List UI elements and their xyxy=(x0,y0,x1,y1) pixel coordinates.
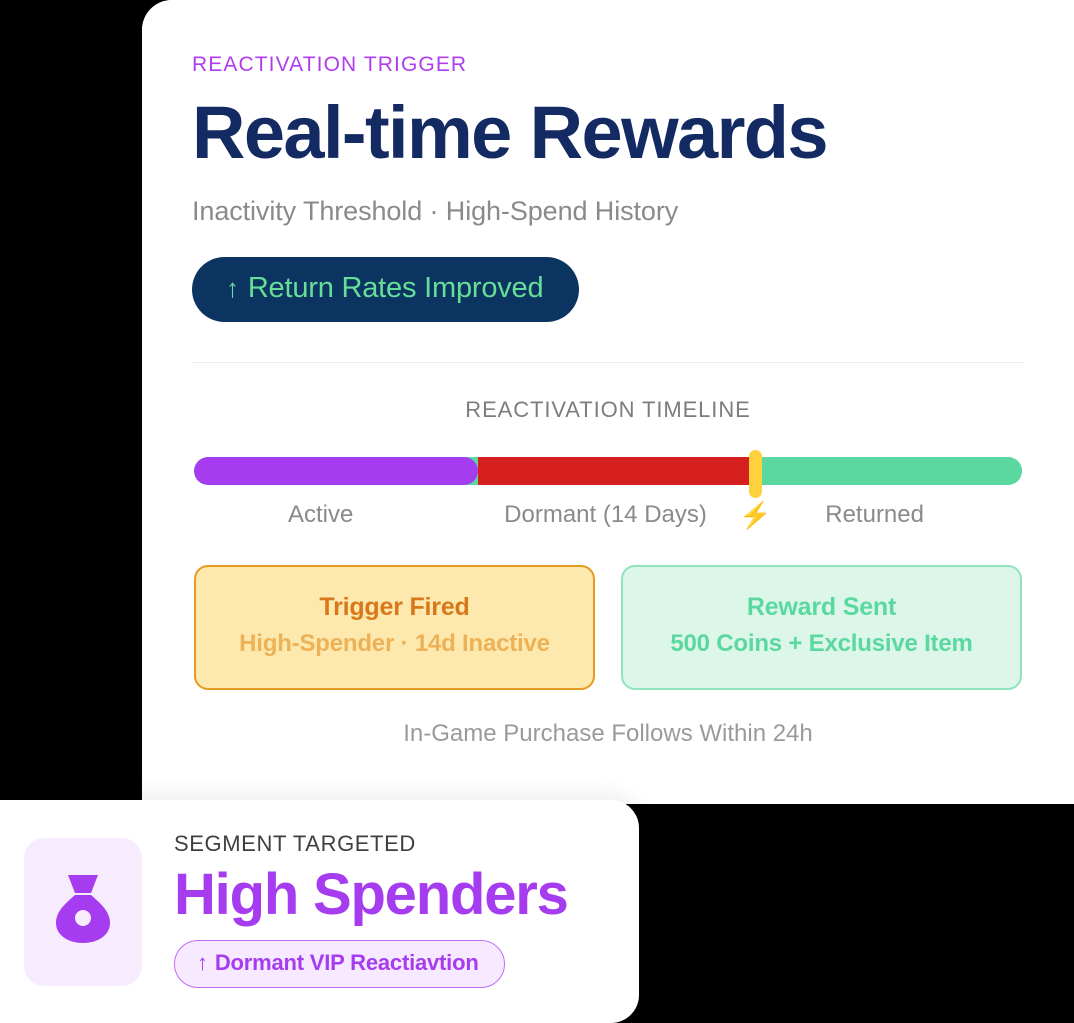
segment-title: High Spenders xyxy=(174,865,568,926)
segment-card: SEGMENT TARGETED High Spenders ↑ Dormant… xyxy=(0,800,639,1023)
segment-eyebrow: SEGMENT TARGETED xyxy=(174,831,568,857)
reward-sent-card: Reward Sent 500 Coins + Exclusive Item xyxy=(621,565,1022,690)
timeline-segment-dormant xyxy=(478,457,755,485)
header-block: REACTIVATION TRIGGER Real-time Rewards I… xyxy=(142,0,1074,363)
timeline-label-active: Active xyxy=(288,501,353,529)
arrow-up-icon: ↑ xyxy=(226,273,239,304)
timeline-section: REACTIVATION TIMELINE Active Dormant (14… xyxy=(142,363,1074,535)
footnote-text: In-Game Purchase Follows Within 24h xyxy=(142,720,1074,748)
segment-icon-container xyxy=(24,838,142,986)
main-card: REACTIVATION TRIGGER Real-time Rewards I… xyxy=(142,0,1074,804)
timeline-labels: Active Dormant (14 Days) ⚡ Returned xyxy=(194,501,1022,535)
arrow-up-icon-segment: ↑ xyxy=(197,950,208,976)
timeline-segment-returned xyxy=(755,457,1022,485)
trigger-fired-subtitle: High-Spender · 14d Inactive xyxy=(206,630,583,658)
timeline-track xyxy=(194,457,1022,485)
trigger-fired-card: Trigger Fired High-Spender · 14d Inactiv… xyxy=(194,565,595,690)
money-bag-icon xyxy=(52,873,114,950)
page-subtitle: Inactivity Threshold · High-Spend Histor… xyxy=(192,196,1024,227)
lightning-bolt-icon: ⚡ xyxy=(739,500,771,531)
timeline-label-returned: Returned xyxy=(825,501,924,529)
screenshot-stage: REACTIVATION TRIGGER Real-time Rewards I… xyxy=(0,0,1074,1023)
trigger-fired-title: Trigger Fired xyxy=(206,593,583,622)
reward-sent-subtitle: 500 Coins + Exclusive Item xyxy=(633,630,1010,658)
timeline-bar xyxy=(194,453,1022,485)
timeline-label-dormant: Dormant (14 Days) xyxy=(504,501,707,529)
segment-text-block: SEGMENT TARGETED High Spenders ↑ Dormant… xyxy=(174,831,568,992)
status-badge-label: Return Rates Improved xyxy=(248,272,544,305)
main-card-inner: REACTIVATION TRIGGER Real-time Rewards I… xyxy=(142,0,1074,804)
status-badge[interactable]: ↑ Return Rates Improved xyxy=(192,257,579,322)
info-cards-row: Trigger Fired High-Spender · 14d Inactiv… xyxy=(142,535,1074,690)
timeline-heading: REACTIVATION TIMELINE xyxy=(194,397,1022,423)
timeline-segment-active xyxy=(194,457,478,485)
segment-badge-label: Dormant VIP Reactiavtion xyxy=(215,950,479,976)
timeline-marker xyxy=(749,450,762,498)
page-title: Real-time Rewards xyxy=(192,96,1024,170)
eyebrow-label: REACTIVATION TRIGGER xyxy=(192,52,1024,77)
segment-badge[interactable]: ↑ Dormant VIP Reactiavtion xyxy=(174,940,505,988)
reward-sent-title: Reward Sent xyxy=(633,593,1010,622)
